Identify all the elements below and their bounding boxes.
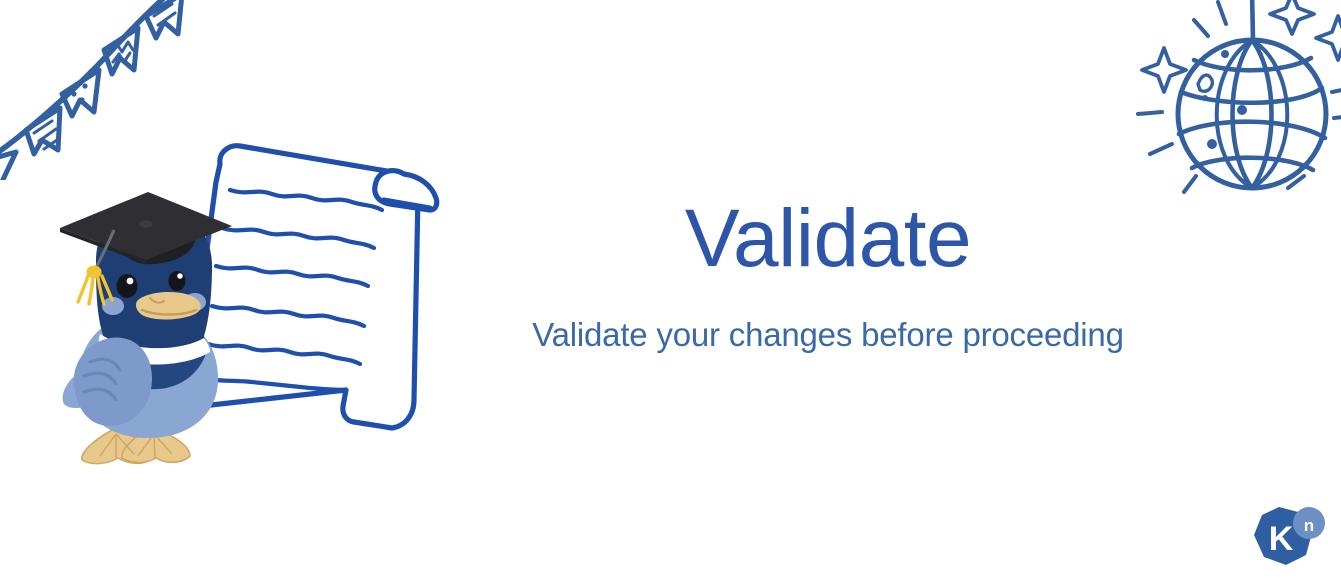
disco-ball (1126, 0, 1341, 223)
logo-mark-letter: K (1269, 520, 1294, 558)
certificate-scroll (178, 138, 470, 454)
page-title: Validate (466, 198, 1190, 280)
page-subtitle: Validate your changes before proceeding (466, 316, 1190, 354)
logo-badge-letter: n (1304, 516, 1314, 535)
bird-feet (82, 428, 190, 464)
graduate-bird-mascot (52, 186, 238, 474)
cap-tassel (78, 266, 112, 305)
slide-canvas: Validate Validate your changes before pr… (0, 0, 1341, 585)
hero-text-block: Validate Validate your changes before pr… (466, 198, 1190, 354)
bird-legs (110, 402, 159, 436)
bird-eyes (117, 271, 186, 298)
killercoda-logo[interactable]: K n (1248, 503, 1330, 579)
party-bunting-garland (0, 0, 216, 180)
graduation-cap (60, 192, 232, 304)
bird-beak (136, 292, 201, 319)
